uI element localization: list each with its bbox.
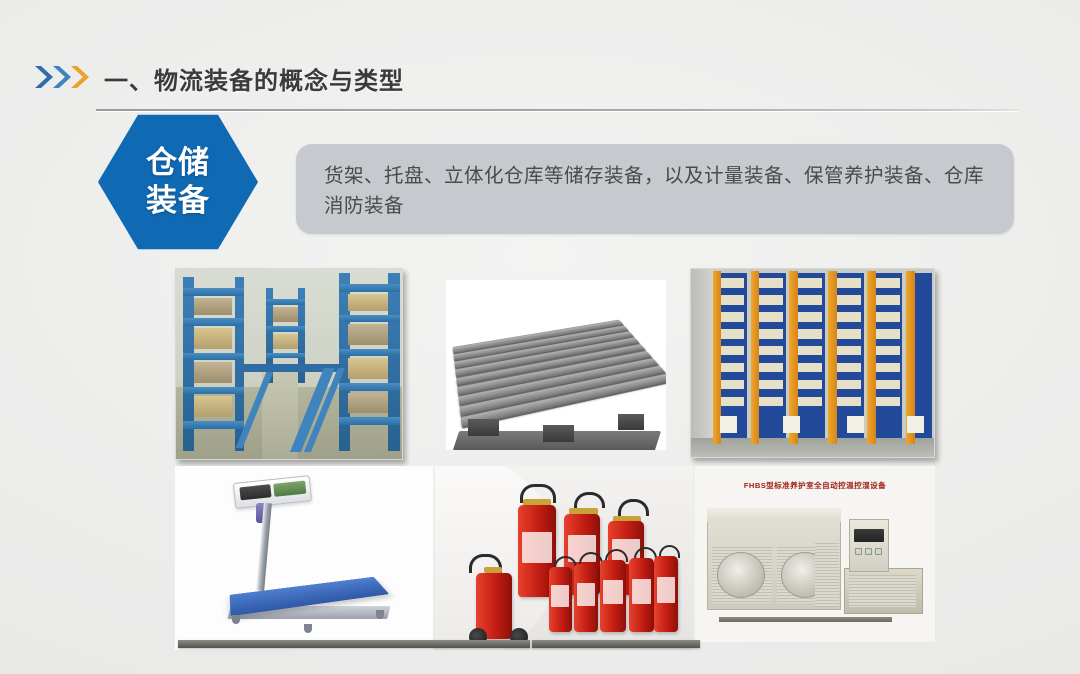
platform-scale-photo xyxy=(175,466,433,650)
page-title: 一、物流装备的概念与类型 xyxy=(104,61,404,96)
photo-gallery: FHBS型标准养护室全自动控温控湿设备 xyxy=(175,268,937,650)
equipment-caption: FHBS型标准养护室全自动控温控湿设备 xyxy=(705,480,926,491)
badge-line-1: 仓储 xyxy=(146,144,210,182)
scale-indicator-head xyxy=(233,475,313,509)
bottom-plinth-right xyxy=(532,640,700,648)
fire-extinguishers-photo xyxy=(435,466,693,650)
fire-extinguishers-image xyxy=(435,466,693,650)
curing-room-equipment-photo: FHBS型标准养护室全自动控温控湿设备 xyxy=(695,466,935,642)
triple-chevron-icon xyxy=(33,64,95,90)
wooden-pallet-photo xyxy=(446,280,666,450)
wooden-pallet-image xyxy=(446,280,666,450)
curing-room-equipment-image: FHBS型标准养护室全自动控温控湿设备 xyxy=(695,466,935,642)
slide-header: 一、物流装备的概念与类型 xyxy=(0,28,1080,88)
title-divider xyxy=(96,109,1018,111)
platform-scale-image xyxy=(175,466,433,650)
hexagon-badge: 仓储 装备 xyxy=(98,112,258,252)
description-box: 货架、托盘、立体化仓库等储存装备，以及计量装备、保管养护装备、仓库消防装备 xyxy=(296,144,1014,234)
badge-line-2: 装备 xyxy=(146,182,210,220)
bottom-plinth-left xyxy=(178,640,530,648)
automated-warehouse-image xyxy=(691,269,934,457)
description-text: 货架、托盘、立体化仓库等储存装备，以及计量装备、保管养护装备、仓库消防装备 xyxy=(324,161,990,221)
automated-warehouse-photo xyxy=(690,268,935,458)
shelving-rack-photo xyxy=(175,268,403,460)
shelving-rack-image xyxy=(176,269,402,459)
